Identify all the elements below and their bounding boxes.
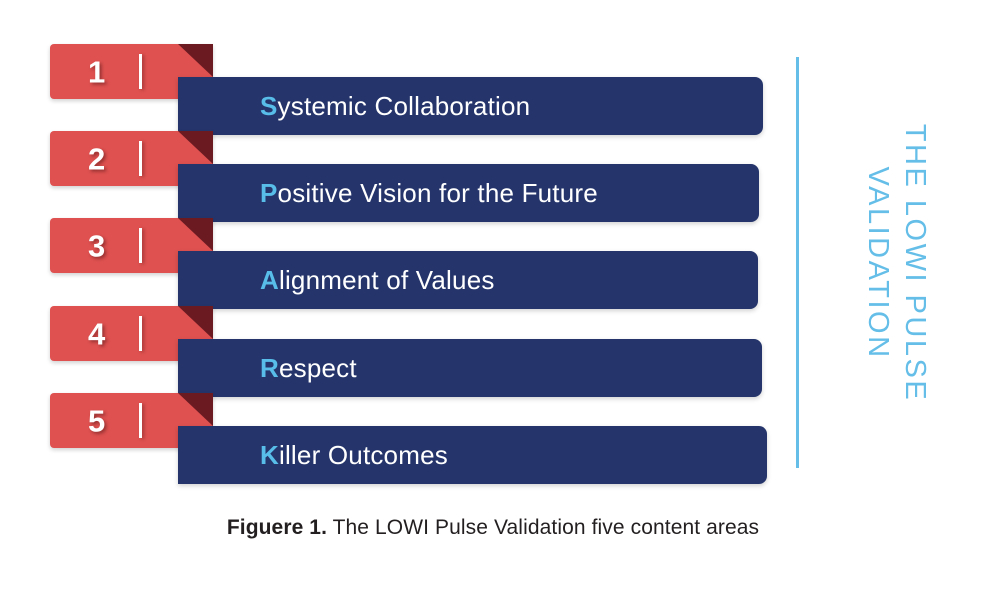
content-area-initial: K [260,440,279,470]
content-area-label: Respect [260,353,357,384]
content-area-label: Killer Outcomes [260,440,448,471]
content-area-bar: Respect [178,339,762,397]
content-area-bar: Positive Vision for the Future [178,164,759,222]
ribbon-number: 2 [88,143,106,174]
side-title: THE LOWI PULSE VALIDATION [826,58,966,468]
content-area-bar: Alignment of Values [178,251,758,309]
content-area-label-rest: ystemic Collaboration [278,91,531,121]
ribbon-number: 4 [88,318,106,349]
content-area-label-rest: espect [279,353,357,383]
content-area-label-rest: iller Outcomes [279,440,448,470]
ribbon-divider [139,403,142,438]
side-title-text: THE LOWI PULSE VALIDATION [859,58,933,468]
ribbon-divider [139,141,142,176]
ribbon-number: 1 [88,56,106,87]
ribbon-divider [139,316,142,351]
content-area-label: Systemic Collaboration [260,91,530,122]
content-area-label-rest: lignment of Values [279,265,495,295]
content-area-label-rest: ositive Vision for the Future [278,178,598,208]
content-area-label: Alignment of Values [260,265,495,296]
side-title-line-1: THE LOWI PULSE [896,58,933,468]
figure-canvas: 1Systemic Collaboration2Positive Vision … [0,0,986,590]
ribbon-divider [139,228,142,263]
figure-caption: Figuere 1. The LOWI Pulse Validation fiv… [0,516,986,540]
content-area-label: Positive Vision for the Future [260,178,598,209]
content-area-initial: S [260,91,278,121]
side-divider-rule [796,57,799,468]
content-area-initial: P [260,178,278,208]
content-area-initial: R [260,353,279,383]
side-title-line-2: VALIDATION [859,58,896,468]
caption-text: The LOWI Pulse Validation five content a… [327,516,759,539]
content-area-bar: Killer Outcomes [178,426,767,484]
ribbon-number: 3 [88,230,106,261]
ribbon-number: 5 [88,405,106,436]
content-area-bar: Systemic Collaboration [178,77,763,135]
content-area-initial: A [260,265,279,295]
ribbon-divider [139,54,142,89]
caption-label: Figuere 1. [227,516,327,539]
